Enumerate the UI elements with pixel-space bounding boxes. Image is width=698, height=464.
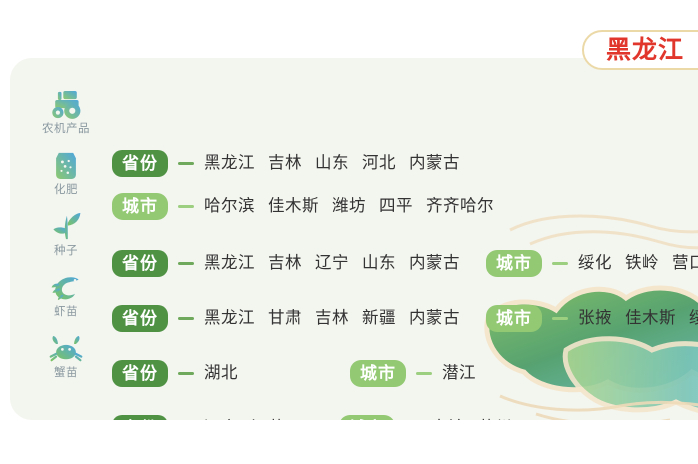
value-item: 潜江 bbox=[442, 364, 476, 382]
value-item: 内蒙古 bbox=[409, 154, 460, 172]
value-item: 黑龙江 bbox=[204, 254, 255, 272]
value-item: 内蒙古 bbox=[409, 254, 460, 272]
value-item: 苏州 bbox=[478, 419, 512, 420]
city-tag[interactable]: 城市 bbox=[350, 360, 406, 387]
province-values: 湖北 bbox=[204, 365, 238, 382]
category-item-seed[interactable]: 种子 bbox=[22, 210, 110, 266]
category-label: 农机产品 bbox=[42, 123, 90, 136]
shrimp-icon bbox=[48, 271, 84, 304]
crab-icon bbox=[48, 332, 84, 365]
category-label: 化肥 bbox=[54, 184, 78, 197]
value-item: 黑龙江 bbox=[204, 154, 255, 172]
connector-dash bbox=[178, 262, 194, 265]
connector-dash bbox=[178, 205, 194, 208]
value-item: 河北 bbox=[362, 154, 396, 172]
value-item: 辽宁 bbox=[315, 254, 349, 272]
connector-dash bbox=[178, 317, 194, 320]
connector-dash bbox=[552, 262, 568, 265]
value-item: 黑龙江 bbox=[204, 309, 255, 327]
province-values: 黑龙江吉林山东河北内蒙古 bbox=[204, 155, 460, 172]
seedling-icon bbox=[48, 210, 84, 243]
province-tag[interactable]: 省份 bbox=[112, 150, 168, 177]
table-row: 城市 哈尔滨佳木斯潍坊四平齐齐哈尔 bbox=[112, 191, 494, 221]
value-item: 潍坊 bbox=[332, 197, 366, 215]
value-item: 吉林 bbox=[268, 254, 302, 272]
value-item: 四平 bbox=[379, 197, 413, 215]
connector-dash bbox=[552, 317, 568, 320]
province-values: 黑龙江吉林辽宁山东内蒙古 bbox=[204, 255, 460, 272]
table-row: 省份 黑龙江吉林辽宁山东内蒙古 城市 绥化铁岭营口 bbox=[112, 248, 698, 278]
value-item: 齐齐哈尔 bbox=[426, 197, 494, 215]
region-rows: 省份 黑龙江吉林山东河北内蒙古 城市 哈尔滨佳木斯潍坊四平齐齐哈尔 省份 bbox=[112, 86, 698, 420]
value-item: 哈尔滨 bbox=[204, 197, 255, 215]
table-row: 省份 湖北 城市 潜江 bbox=[112, 358, 476, 388]
value-item: 佳木斯 bbox=[625, 309, 676, 327]
table-row: 省份 黑龙江甘肃吉林新疆内蒙古 城市 张掖佳木斯绥 bbox=[112, 303, 698, 333]
city-group: 城市 绥化铁岭营口 bbox=[486, 250, 698, 277]
city-tag[interactable]: 城市 bbox=[339, 415, 395, 421]
province-group: 省份 黑龙江甘肃吉林新疆内蒙古 bbox=[112, 305, 460, 332]
province-values: 黑龙江甘肃吉林新疆内蒙古 bbox=[204, 310, 460, 327]
value-item: 盘锦 bbox=[431, 419, 465, 420]
province-tag[interactable]: 省份 bbox=[112, 415, 168, 421]
value-item: 铁岭 bbox=[625, 254, 659, 272]
value-item: 山东 bbox=[362, 254, 396, 272]
content-card: 农机产品 化肥 bbox=[10, 58, 698, 420]
value-item: 吉林 bbox=[315, 309, 349, 327]
province-group: 省份 黑龙江吉林辽宁山东内蒙古 bbox=[112, 250, 460, 277]
province-tag[interactable]: 省份 bbox=[112, 360, 168, 387]
city-values: 哈尔滨佳木斯潍坊四平齐齐哈尔 bbox=[204, 198, 494, 215]
value-item: 山东 bbox=[315, 154, 349, 172]
tractor-icon bbox=[48, 88, 84, 121]
region-badge-label: 黑龙江 bbox=[606, 38, 684, 63]
category-label: 蟹苗 bbox=[54, 367, 78, 380]
city-group: 城市 盘锦苏州 bbox=[339, 415, 512, 421]
value-item: 新疆 bbox=[362, 309, 396, 327]
category-item-fertilizer[interactable]: 化肥 bbox=[22, 149, 110, 205]
value-item: 绥化 bbox=[578, 254, 612, 272]
city-values: 张掖佳木斯绥 bbox=[578, 310, 698, 327]
connector-dash bbox=[416, 372, 432, 375]
page-root: 农机产品 化肥 bbox=[0, 0, 698, 464]
province-group: 省份 辽宁江苏 bbox=[112, 415, 285, 421]
province-group: 省份 湖北 bbox=[112, 360, 238, 387]
region-badge[interactable]: 黑龙江 bbox=[582, 30, 698, 70]
fertilizer-bag-icon bbox=[48, 149, 84, 182]
value-item: 吉林 bbox=[268, 154, 302, 172]
connector-dash bbox=[178, 372, 194, 375]
value-item: 江苏 bbox=[251, 419, 285, 420]
category-item-farm-machinery[interactable]: 农机产品 bbox=[22, 88, 110, 144]
table-row: 省份 黑龙江吉林山东河北内蒙古 bbox=[112, 148, 460, 178]
category-label: 虾苗 bbox=[54, 306, 78, 319]
value-item: 营口 bbox=[672, 254, 698, 272]
value-item: 辽宁 bbox=[204, 419, 238, 420]
city-values: 绥化铁岭营口 bbox=[578, 255, 698, 272]
city-tag[interactable]: 城市 bbox=[486, 250, 542, 277]
city-tag[interactable]: 城市 bbox=[112, 193, 168, 220]
city-tag[interactable]: 城市 bbox=[486, 305, 542, 332]
value-item: 绥 bbox=[689, 309, 698, 327]
category-item-shrimp-fry[interactable]: 虾苗 bbox=[22, 271, 110, 327]
city-values: 潜江 bbox=[442, 365, 476, 382]
table-row: 省份 辽宁江苏 城市 盘锦苏州 bbox=[112, 413, 512, 420]
category-rail: 农机产品 化肥 bbox=[22, 88, 110, 393]
category-item-crab-fry[interactable]: 蟹苗 bbox=[22, 332, 110, 388]
city-group: 城市 潜江 bbox=[350, 360, 476, 387]
province-tag[interactable]: 省份 bbox=[112, 305, 168, 332]
value-item: 张掖 bbox=[578, 309, 612, 327]
category-label: 种子 bbox=[54, 245, 78, 258]
city-group: 城市 张掖佳木斯绥 bbox=[486, 305, 698, 332]
value-item: 湖北 bbox=[204, 364, 238, 382]
value-item: 甘肃 bbox=[268, 309, 302, 327]
value-item: 内蒙古 bbox=[409, 309, 460, 327]
province-tag[interactable]: 省份 bbox=[112, 250, 168, 277]
connector-dash bbox=[178, 162, 194, 165]
value-item: 佳木斯 bbox=[268, 197, 319, 215]
